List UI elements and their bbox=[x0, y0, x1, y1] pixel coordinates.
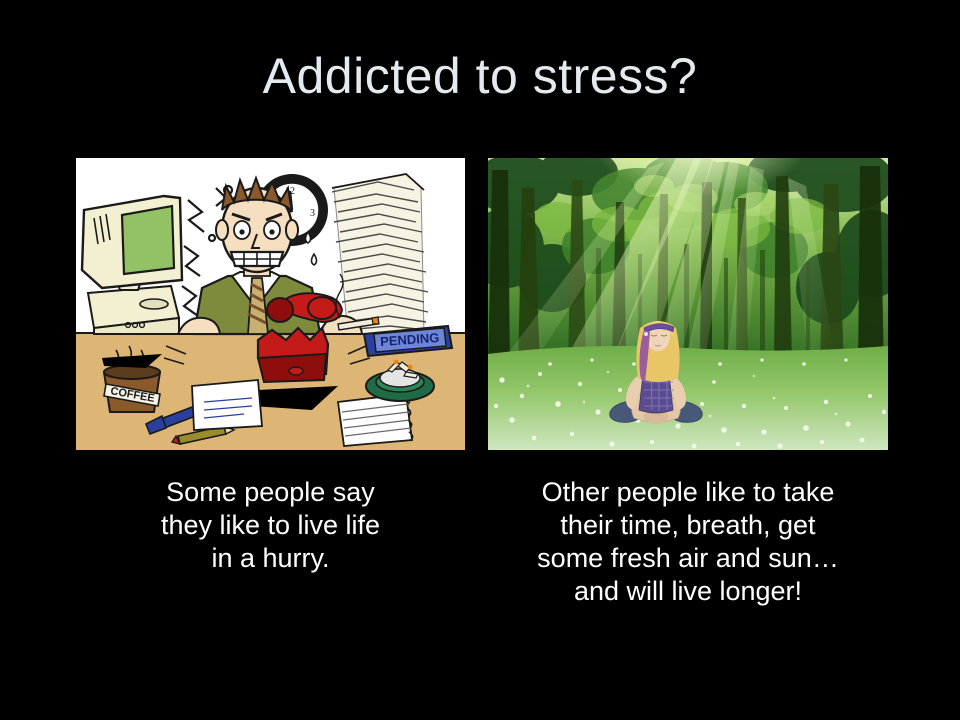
forest-meditation-illustration bbox=[488, 158, 888, 450]
stressed-worker-illustration: 12 3 bbox=[76, 158, 465, 450]
page-title: Addicted to stress? bbox=[0, 50, 960, 103]
left-image-stressed-worker: 12 3 bbox=[76, 158, 465, 450]
computer-monitor bbox=[82, 196, 182, 334]
right-caption: Other people like to take their time, br… bbox=[478, 476, 898, 608]
paper-stack bbox=[332, 174, 428, 334]
desk-notepad-left bbox=[192, 380, 262, 430]
slide-root: Addicted to stress? bbox=[0, 0, 960, 720]
right-image-forest-meditation bbox=[488, 158, 888, 450]
left-caption: Some people say they like to live life i… bbox=[68, 476, 473, 575]
flower-meadow bbox=[488, 346, 888, 450]
svg-text:3: 3 bbox=[310, 208, 315, 219]
